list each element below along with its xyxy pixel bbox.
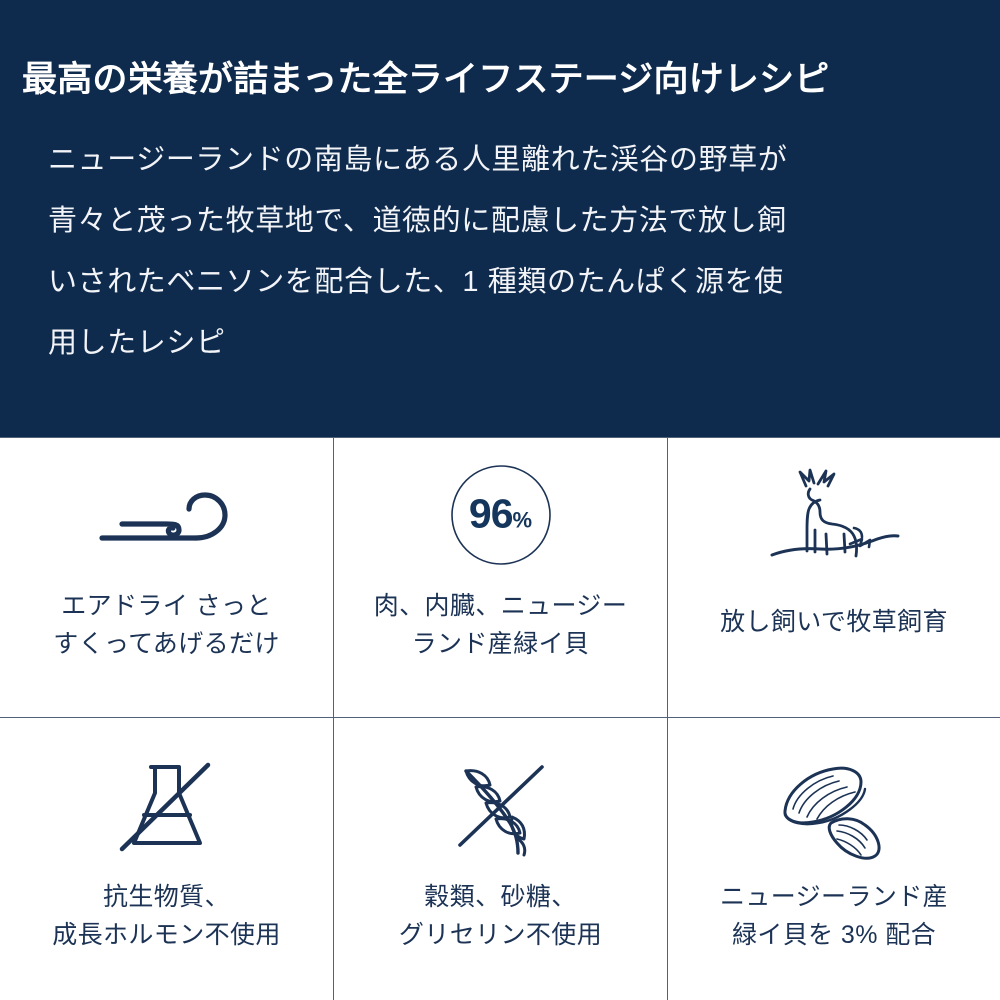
feature-cell-green-lipped-mussel: ニュージーランド産 緑イ貝を 3% 配合 <box>668 718 1000 1000</box>
feature-cell-no-antibiotics: 抗生物質、 成長ホルモン不使用 <box>0 718 334 1000</box>
feature-label-line: 放し飼いで牧草飼育 <box>720 603 948 641</box>
feature-cell-ingredient-percentage: 96% 肉、内臓、ニュージー ランド産緑イ貝 <box>334 437 668 718</box>
badge-value: 96% <box>449 491 553 538</box>
feature-label-line: ランド産緑イ貝 <box>374 625 628 663</box>
feature-label-line: すくってあげるだけ <box>53 625 280 663</box>
feature-label-line: 抗生物質、 <box>52 878 281 916</box>
feature-cell-air-dry: エアドライ さっと すくってあげるだけ <box>0 437 334 718</box>
hero-description-line: ニュージーランドの南島にある人里離れた渓谷の野草が <box>48 130 948 191</box>
product-feature-panel: 最高の栄養が詰まった全ライフステージ向けレシピ ニュージーランドの南島にある人里… <box>0 0 1000 1000</box>
no-grain-icon <box>334 718 667 878</box>
feature-label: 抗生物質、 成長ホルモン不使用 <box>42 878 291 954</box>
feature-label-line: 穀類、砂糖、 <box>399 878 602 916</box>
feature-label: 放し飼いで牧草飼育 <box>710 603 958 641</box>
air-dry-wind-icon <box>0 437 333 587</box>
feature-label: ニュージーランド産 緑イ貝を 3% 配合 <box>710 878 958 954</box>
feature-label: 肉、内臓、ニュージー ランド産緑イ貝 <box>364 587 638 663</box>
hero-description-line: 用したレシピ <box>48 313 948 374</box>
feature-label-line: ニュージーランド産 <box>720 878 948 916</box>
hero-section: 最高の栄養が詰まった全ライフステージ向けレシピ ニュージーランドの南島にある人里… <box>0 0 1000 437</box>
no-flask-icon <box>0 718 333 878</box>
feature-label-line: 成長ホルモン不使用 <box>52 916 281 954</box>
hero-description: ニュージーランドの南島にある人里離れた渓谷の野草が 青々と茂った牧草地で、道徳的… <box>48 130 948 374</box>
page-title: 最高の栄養が詰まった全ライフステージ向けレシピ <box>22 59 978 101</box>
deer-icon <box>668 437 1000 587</box>
hero-description-line: 青々と茂った牧草地で、道徳的に配慮した方法で放し飼 <box>48 191 948 252</box>
feature-label: 穀類、砂糖、 グリセリン不使用 <box>389 878 612 954</box>
hero-description-line: いされたベニソンを配合した、1 種類のたんぱく源を使 <box>48 252 948 313</box>
feature-grid: エアドライ さっと すくってあげるだけ 96% 肉、内臓、ニュージー ランド産緑… <box>0 437 1000 1000</box>
feature-label-line: エアドライ さっと <box>53 587 280 625</box>
feature-label-line: 緑イ貝を 3% 配合 <box>720 916 948 954</box>
feature-label: エアドライ さっと すくってあげるだけ <box>43 587 290 663</box>
percent-badge-icon: 96% <box>334 437 667 587</box>
feature-label-line: グリセリン不使用 <box>399 916 602 954</box>
feature-cell-no-grain: 穀類、砂糖、 グリセリン不使用 <box>334 718 668 1000</box>
feature-cell-free-range: 放し飼いで牧草飼育 <box>668 437 1000 718</box>
green-lipped-mussel-icon <box>668 718 1000 878</box>
feature-label-line: 肉、内臓、ニュージー <box>374 587 628 625</box>
badge-number: 96 <box>469 491 513 537</box>
badge-percent-sign: % <box>513 508 533 533</box>
